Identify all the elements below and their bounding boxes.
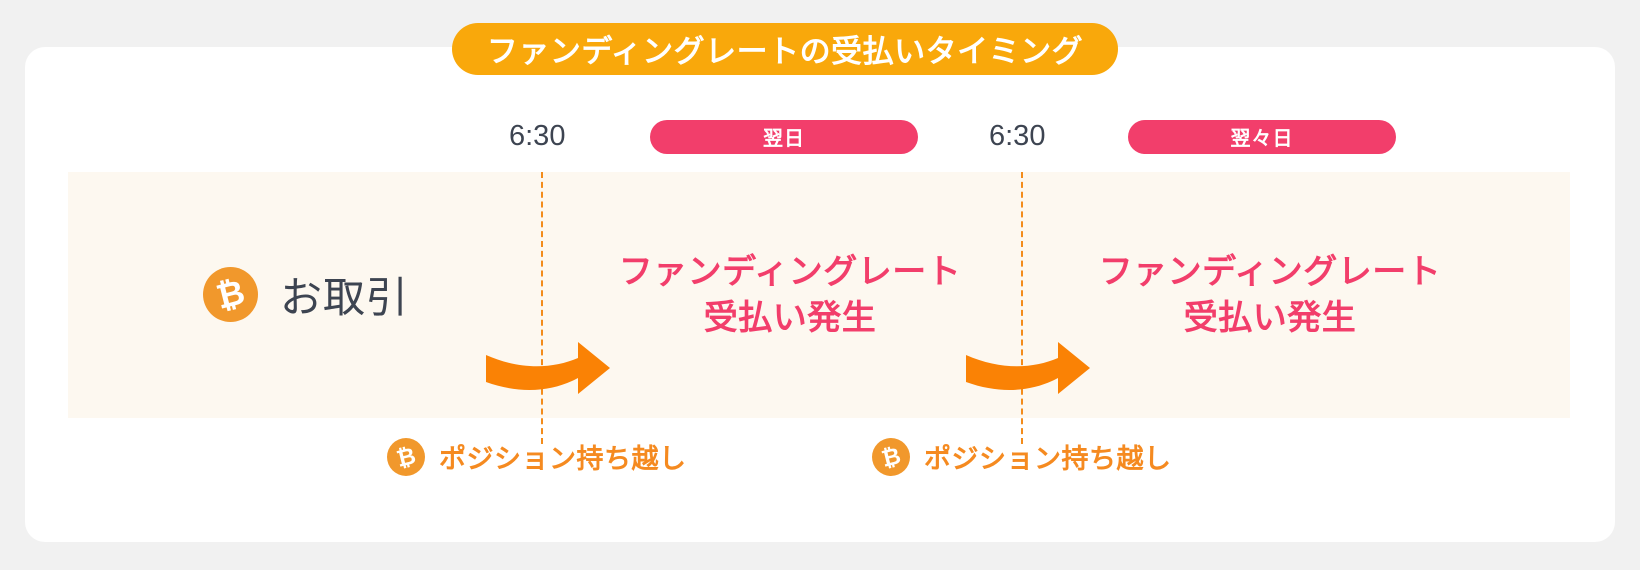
funding-event-2-line1: ファンディングレート <box>1085 250 1455 296</box>
day-badge-label-1: 翌日 <box>763 122 805 151</box>
position-carryover-note-1: ₿ ポジション持ち越し <box>387 437 687 476</box>
trading-label: お取引 <box>280 264 409 325</box>
time-marker-1: 6:30 <box>509 120 565 153</box>
bitcoin-icon: ₿ <box>203 267 258 322</box>
timeline-divider-1 <box>541 172 543 444</box>
figure-title-banner: ファンディングレートの受払いタイミング <box>452 23 1118 75</box>
bitcoin-icon: ₿ <box>872 438 910 476</box>
position-carryover-label-2: ポジション持ち越し <box>924 437 1172 476</box>
trading-segment: ₿ お取引 <box>203 264 409 325</box>
funding-event-1: ファンディングレート 受払い発生 <box>605 250 975 341</box>
day-badge-label-2: 翌々日 <box>1231 122 1294 151</box>
position-carryover-note-2: ₿ ポジション持ち越し <box>872 437 1172 476</box>
position-carryover-label-1: ポジション持ち越し <box>439 437 687 476</box>
page-title: ファンディングレートの受払いタイミング <box>487 26 1083 71</box>
funding-rate-timing-figure: ファンディングレートの受払いタイミング 6:30 6:30 翌日 翌々日 ₿ お… <box>0 0 1640 570</box>
funding-event-2-line2: 受払い発生 <box>1085 296 1455 342</box>
time-marker-2: 6:30 <box>989 120 1045 153</box>
carry-over-arrow-2 <box>962 337 1092 401</box>
bitcoin-glyph: ₿ <box>197 261 264 328</box>
bitcoin-glyph: ₿ <box>383 433 429 479</box>
bitcoin-icon: ₿ <box>387 438 425 476</box>
funding-event-2: ファンディングレート 受払い発生 <box>1085 250 1455 341</box>
day-badge-day-after-next: 翌々日 <box>1128 120 1396 154</box>
bitcoin-glyph: ₿ <box>868 433 914 479</box>
funding-event-1-line1: ファンディングレート <box>605 250 975 296</box>
carry-over-arrow-1 <box>482 337 612 401</box>
funding-event-1-line2: 受払い発生 <box>605 296 975 342</box>
timeline-divider-2 <box>1021 172 1023 444</box>
day-badge-next-day: 翌日 <box>650 120 918 154</box>
